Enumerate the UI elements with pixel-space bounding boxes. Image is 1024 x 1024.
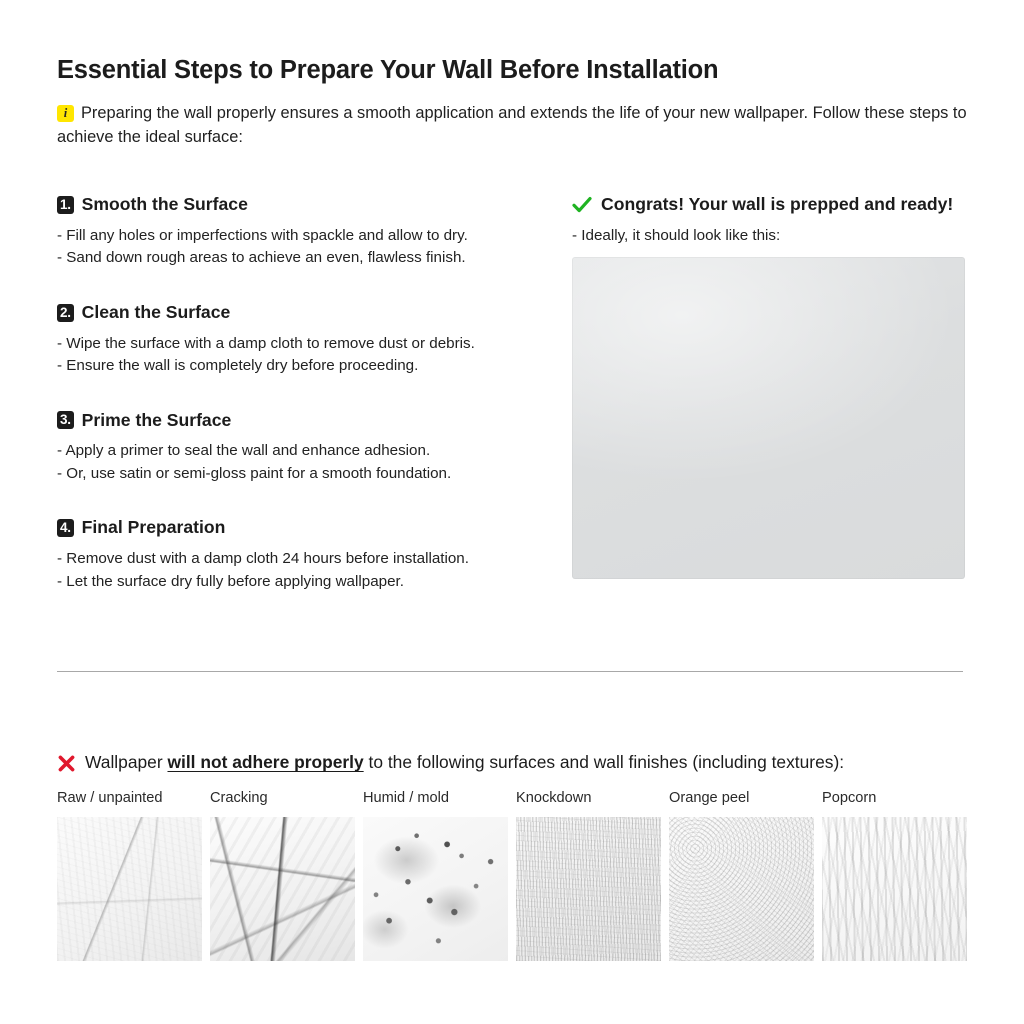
intro-paragraph: iPreparing the wall properly ensures a s… [57, 101, 967, 149]
step-bullet: - Apply a primer to seal the wall and en… [57, 440, 557, 463]
step-number-badge: 1. [57, 196, 74, 214]
surface-thumbnail-cracking [210, 817, 355, 961]
step-bullet: - Let the surface dry fully before apply… [57, 571, 557, 594]
step-heading: Prime the Surface [82, 410, 232, 432]
warning-text-before: Wallpaper [85, 752, 167, 772]
warning-emphasis: will not adhere properly [167, 752, 363, 772]
surface-item: Cracking [210, 790, 355, 961]
step-item: 1. Smooth the Surface - Fill any holes o… [57, 194, 557, 270]
surface-thumbnail-raw-unpainted [57, 817, 202, 961]
step-bullet: - Or, use satin or semi-gloss paint for … [57, 463, 557, 486]
success-heading-row: Congrats! Your wall is prepped and ready… [572, 194, 967, 216]
surface-label: Orange peel [669, 790, 814, 808]
step-bullets: - Apply a primer to seal the wall and en… [57, 440, 557, 485]
surface-label: Knockdown [516, 790, 661, 808]
step-number-badge: 2. [57, 304, 74, 322]
step-bullet: - Ensure the wall is completely dry befo… [57, 355, 557, 378]
success-heading: Congrats! Your wall is prepped and ready… [601, 194, 953, 216]
surface-item: Popcorn [822, 790, 967, 961]
step-item: 4. Final Preparation - Remove dust with … [57, 517, 557, 593]
section-divider [57, 671, 963, 672]
step-heading-row: 4. Final Preparation [57, 517, 557, 539]
info-icon: i [57, 105, 74, 122]
page-title: Essential Steps to Prepare Your Wall Bef… [57, 0, 967, 85]
surface-item: Raw / unpainted [57, 790, 202, 961]
warning-text: Wallpaper will not adhere properly to th… [85, 752, 844, 774]
surface-label: Cracking [210, 790, 355, 808]
surface-thumbnail-orange-peel [669, 817, 814, 961]
step-heading: Final Preparation [82, 517, 226, 539]
red-x-icon [57, 754, 76, 773]
success-subtext: - Ideally, it should look like this: [572, 225, 967, 248]
step-heading: Clean the Surface [82, 302, 231, 324]
surface-thumbnail-popcorn [822, 817, 967, 961]
document-body: Essential Steps to Prepare Your Wall Bef… [57, 0, 967, 961]
step-number-badge: 3. [57, 411, 74, 429]
intro-text: Preparing the wall properly ensures a sm… [57, 104, 967, 146]
step-heading: Smooth the Surface [82, 194, 248, 216]
surface-label: Humid / mold [363, 790, 508, 808]
steps-column: 1. Smooth the Surface - Fill any holes o… [57, 194, 557, 594]
warning-heading-row: Wallpaper will not adhere properly to th… [57, 752, 967, 774]
surface-item: Knockdown [516, 790, 661, 961]
surface-item: Orange peel [669, 790, 814, 961]
surface-thumbnail-knockdown [516, 817, 661, 961]
content-columns: 1. Smooth the Surface - Fill any holes o… [57, 194, 967, 594]
step-bullet: - Remove dust with a damp cloth 24 hours… [57, 548, 557, 571]
step-bullet: - Fill any holes or imperfections with s… [57, 225, 557, 248]
step-item: 2. Clean the Surface - Wipe the surface … [57, 302, 557, 378]
surface-label: Popcorn [822, 790, 967, 808]
warning-section: Wallpaper will not adhere properly to th… [57, 752, 967, 960]
step-bullets: - Wipe the surface with a damp cloth to … [57, 333, 557, 378]
step-bullets: - Fill any holes or imperfections with s… [57, 225, 557, 270]
step-heading-row: 1. Smooth the Surface [57, 194, 557, 216]
step-number-badge: 4. [57, 519, 74, 537]
surface-item: Humid / mold [363, 790, 508, 961]
green-check-icon [572, 196, 592, 214]
step-heading-row: 2. Clean the Surface [57, 302, 557, 324]
step-bullet: - Sand down rough areas to achieve an ev… [57, 247, 557, 270]
step-bullet: - Wipe the surface with a damp cloth to … [57, 333, 557, 356]
success-column: Congrats! Your wall is prepped and ready… [557, 194, 967, 594]
surface-thumbnail-row: Raw / unpainted Cracking Humid / mold Kn… [57, 790, 967, 961]
step-heading-row: 3. Prime the Surface [57, 410, 557, 432]
surface-thumbnail-humid-mold [363, 817, 508, 961]
surface-label: Raw / unpainted [57, 790, 202, 808]
step-bullets: - Remove dust with a damp cloth 24 hours… [57, 548, 557, 593]
prepared-wall-preview [572, 257, 965, 579]
warning-text-after: to the following surfaces and wall finis… [364, 752, 844, 772]
step-item: 3. Prime the Surface - Apply a primer to… [57, 410, 557, 486]
